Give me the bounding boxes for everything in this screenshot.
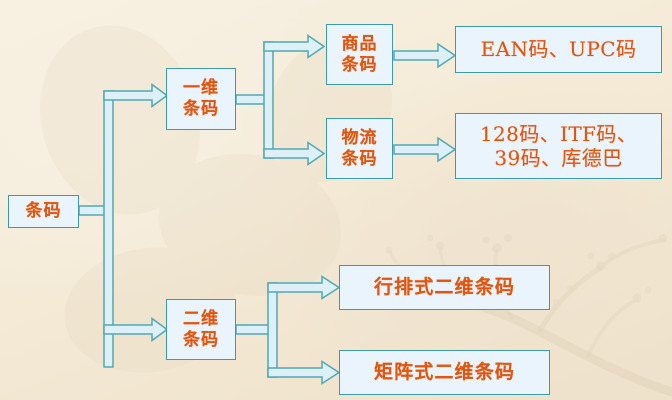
node-root[interactable]: 条码 bbox=[8, 195, 79, 228]
node-logistics-barcode[interactable]: 物流 条码 bbox=[326, 118, 393, 179]
node-ean-upc-label: EAN码、UPC码 bbox=[481, 37, 637, 61]
node-128-itf-39-codabar-label: 128码、ITF码、 39码、库德巴 bbox=[480, 122, 637, 171]
node-1d-barcode[interactable]: 一维 条码 bbox=[166, 68, 236, 130]
node-1d-barcode-label: 一维 条码 bbox=[183, 78, 219, 119]
node-128-itf-39-codabar[interactable]: 128码、ITF码、 39码、库德巴 bbox=[455, 113, 662, 179]
node-row-2d-barcode-label: 行排式二维条码 bbox=[374, 276, 515, 299]
node-matrix-2d-barcode-label: 矩阵式二维条码 bbox=[374, 361, 515, 384]
edge-1d-spine bbox=[264, 42, 273, 158]
node-logistics-barcode-label: 物流 条码 bbox=[341, 128, 377, 169]
edge-arrow-logistics-to-128 bbox=[394, 138, 455, 161]
edge-2d-spine bbox=[268, 283, 277, 377]
node-root-label: 条码 bbox=[25, 201, 61, 222]
diagram-canvas: 条码 一维 条码 二维 条码 商品 条码 物流 条码 行排式二维条码 矩阵式二维… bbox=[0, 0, 672, 400]
node-product-barcode[interactable]: 商品 条码 bbox=[326, 24, 393, 85]
node-ean-upc[interactable]: EAN码、UPC码 bbox=[455, 26, 662, 73]
node-row-2d-barcode[interactable]: 行排式二维条码 bbox=[339, 265, 550, 310]
edge-arrow-2d-to-row bbox=[268, 277, 339, 299]
edge-arrow-2d-to-matrix bbox=[268, 362, 339, 384]
node-matrix-2d-barcode[interactable]: 矩阵式二维条码 bbox=[339, 350, 550, 395]
node-product-barcode-label: 商品 条码 bbox=[341, 34, 377, 75]
edge-2d-stub bbox=[236, 325, 272, 334]
edge-arrow-product-to-ean bbox=[394, 44, 455, 67]
node-2d-barcode-label: 二维 条码 bbox=[183, 309, 219, 350]
node-2d-barcode[interactable]: 二维 条码 bbox=[166, 299, 236, 360]
